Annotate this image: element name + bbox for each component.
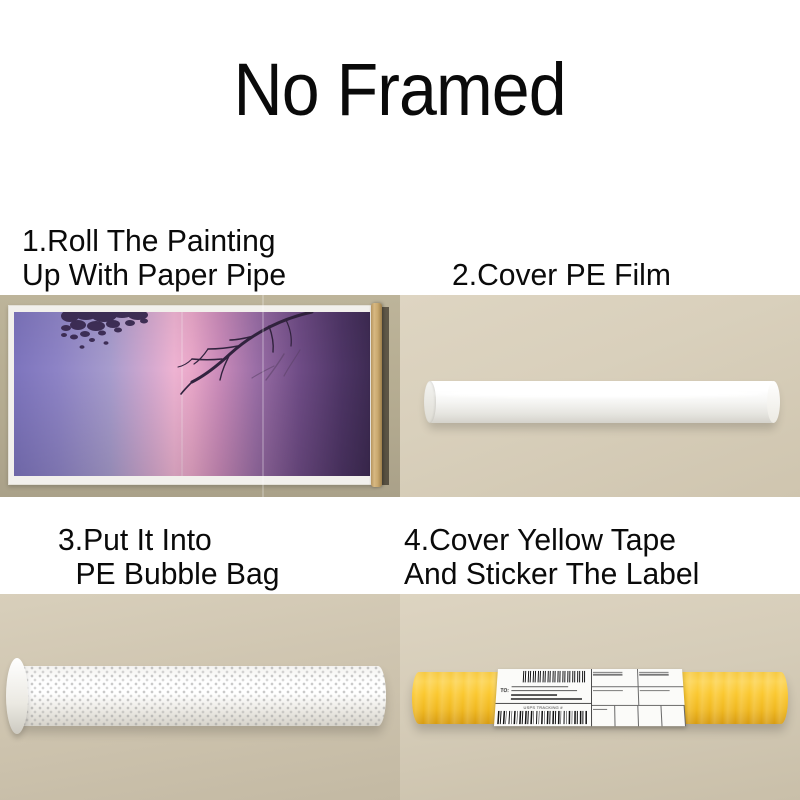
label-form-cell xyxy=(592,687,639,705)
label-form-row xyxy=(592,669,683,687)
yellow-tape-label-photo: TO: USPS TRACKING # xyxy=(400,594,800,800)
label-form-cell xyxy=(615,706,639,726)
caption-step-1-line-2: Up With Paper Pipe xyxy=(22,258,389,293)
pe-film-highlight xyxy=(434,389,764,398)
shipping-label-address-lines xyxy=(510,684,588,702)
caption-step-4-line-1: 4.Cover Yellow Tape xyxy=(404,523,788,558)
barcode-bottom-icon xyxy=(497,711,588,724)
painting-canvas xyxy=(14,312,370,476)
shipping-label-address-section: TO: USPS TRACKING # xyxy=(494,669,592,726)
tree-foliage-icon xyxy=(52,312,192,362)
address-line xyxy=(510,698,581,700)
caption-step-3: 3.Put It Into PE Bubble Bag xyxy=(0,500,390,594)
page-title-bar: No Framed xyxy=(0,0,800,180)
form-tick xyxy=(593,709,607,710)
label-form-row xyxy=(592,687,685,706)
paper-pipe xyxy=(371,303,382,487)
form-tick xyxy=(593,674,623,675)
rolled-painting-photo xyxy=(0,295,400,497)
caption-step-2: 2.Cover PE Film xyxy=(400,200,800,295)
caption-row-top: 1.Roll The Painting Up With Paper Pipe 2… xyxy=(0,200,800,295)
painting-white-border xyxy=(8,305,376,485)
caption-step-3-line-1: 3.Put It Into xyxy=(58,523,380,558)
tracking-caption: USPS TRACKING # xyxy=(495,703,591,710)
shipping-label-to-block: TO: xyxy=(496,683,591,703)
page-title: No Framed xyxy=(234,53,566,127)
photo-grid-bottom: TO: USPS TRACKING # xyxy=(0,594,800,800)
shipping-label: TO: USPS TRACKING # xyxy=(494,669,686,726)
label-form-cell xyxy=(638,687,684,705)
caption-step-2-line-1: 2.Cover PE Film xyxy=(452,258,790,293)
address-line xyxy=(511,694,557,696)
photo-grid-top xyxy=(0,295,800,497)
label-form-cell xyxy=(592,706,616,726)
label-form-cell xyxy=(592,669,638,686)
address-line xyxy=(511,686,568,688)
caption-step-1-line-1: 1.Roll The Painting xyxy=(22,224,389,259)
shipping-label-form-grid xyxy=(592,669,686,726)
bubble-texture xyxy=(14,666,386,726)
caption-row-bottom: 3.Put It Into PE Bubble Bag 4.Cover Yell… xyxy=(0,500,800,594)
caption-step-3-line-2: PE Bubble Bag xyxy=(58,557,380,592)
pe-film-roll-photo xyxy=(400,295,800,497)
bubble-bag-roll-photo xyxy=(0,594,400,800)
form-tick xyxy=(593,671,623,672)
tree-branch-icon xyxy=(134,312,314,400)
label-form-row xyxy=(592,706,686,726)
paper-pipe-shadow xyxy=(382,307,389,485)
caption-step-4-line-2: And Sticker The Label xyxy=(404,557,788,592)
caption-step-1: 1.Roll The Painting Up With Paper Pipe xyxy=(0,200,400,295)
label-form-cell xyxy=(661,706,686,726)
form-tick xyxy=(639,674,669,675)
label-form-cell xyxy=(638,669,684,686)
barcode-top-icon xyxy=(523,671,587,682)
bubble-wrapped-roll xyxy=(14,666,386,726)
form-tick xyxy=(639,690,669,691)
form-tick xyxy=(593,690,623,691)
label-form-cell xyxy=(638,706,662,726)
caption-step-4: 4.Cover Yellow Tape And Sticker The Labe… xyxy=(390,500,800,594)
pe-film-roll xyxy=(426,381,778,423)
address-line xyxy=(511,690,577,692)
packaging-instructions-page: No Framed 1.Roll The Painting Up With Pa… xyxy=(0,0,800,800)
bubble-bag-open-end xyxy=(6,658,28,734)
form-tick xyxy=(639,671,669,672)
